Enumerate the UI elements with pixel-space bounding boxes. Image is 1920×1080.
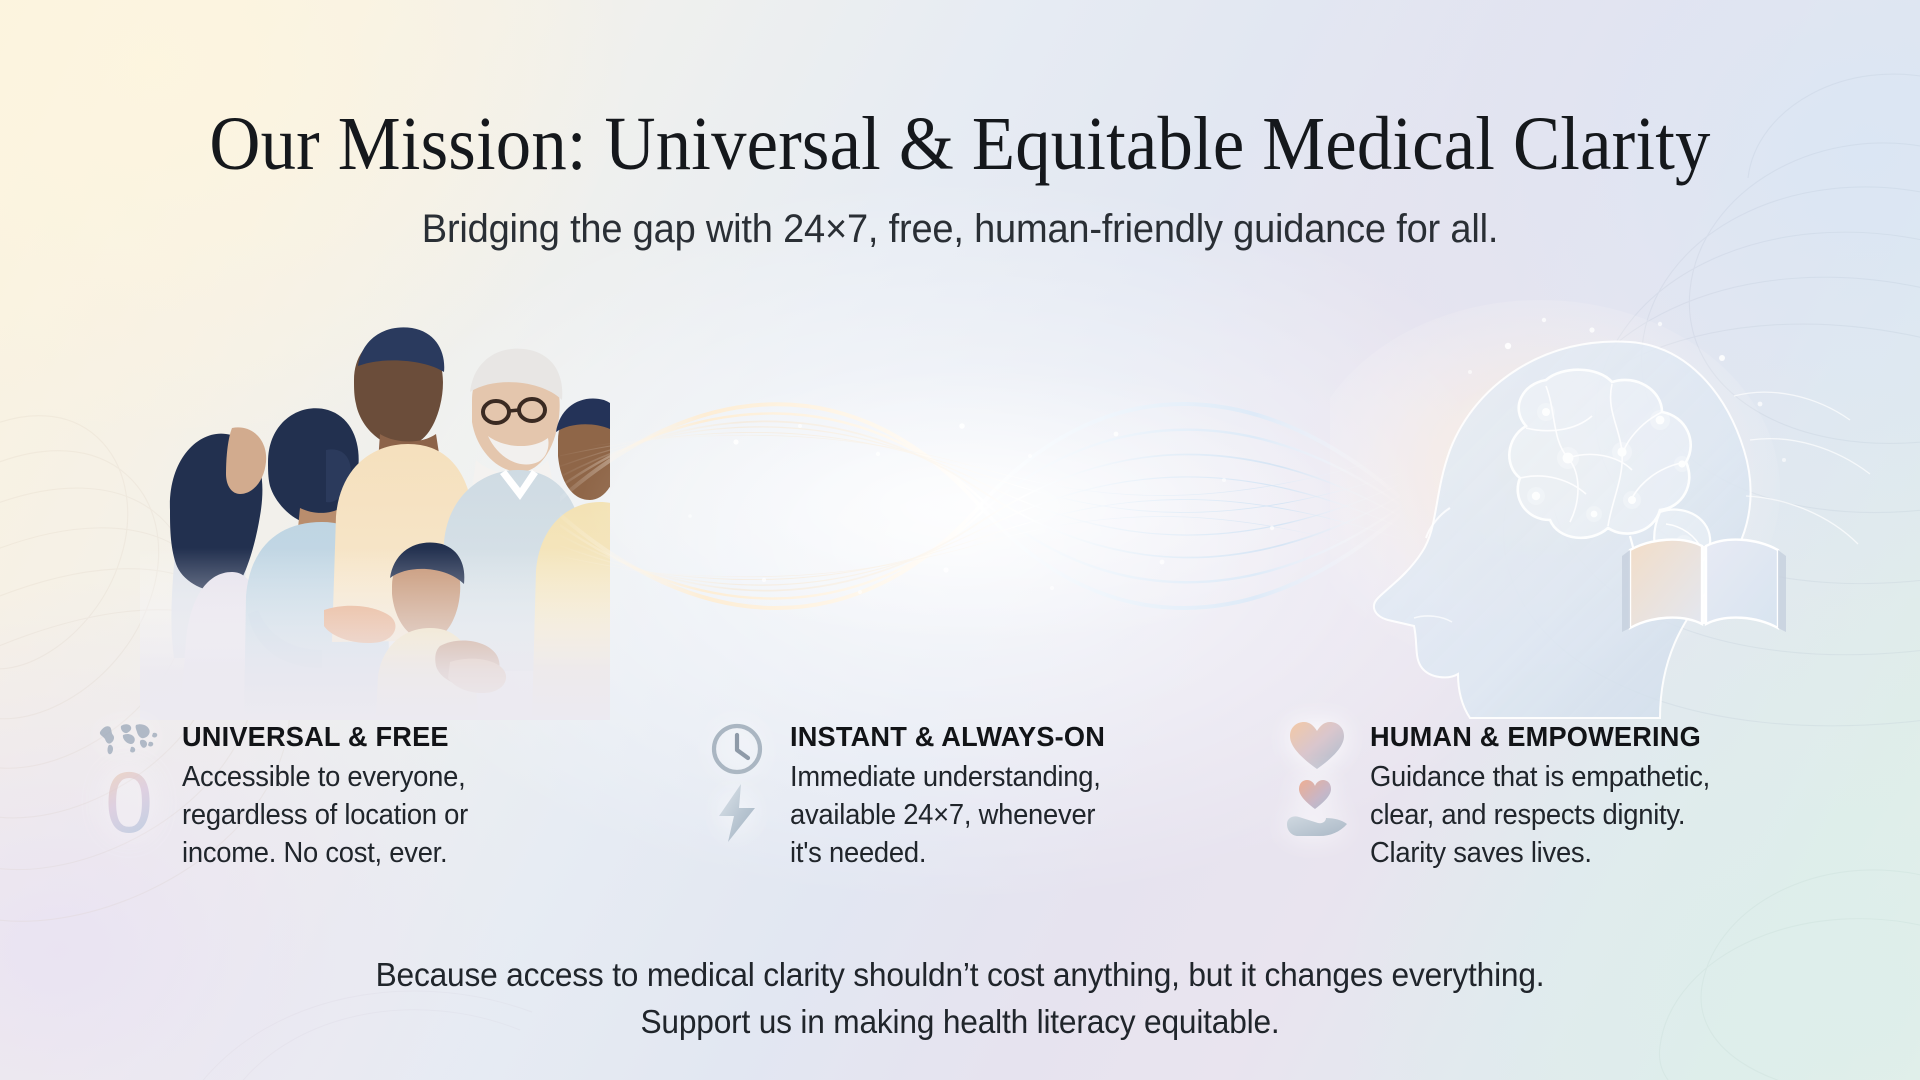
feature-instant-always-on-icons (700, 718, 774, 844)
description-line: Accessible to everyone, (182, 759, 468, 797)
feature-columns: 0 UNIVERSAL & FREE Accessible to everyon… (0, 718, 1920, 908)
feature-universal-free-text: UNIVERSAL & FREE Accessible to everyone,… (182, 718, 480, 873)
footer-line-2: Support us in making health literacy equ… (38, 999, 1881, 1046)
footer-block: Because access to medical clarity should… (0, 952, 1920, 1046)
description-line: it's needed. (790, 835, 1102, 873)
feature-universal-free-description: Accessible to everyone, regardless of lo… (182, 759, 468, 873)
heart-icon (1288, 720, 1346, 772)
feature-instant-always-on-heading: INSTANT & ALWAYS-ON (790, 721, 1105, 753)
description-line: income. No cost, ever. (182, 835, 468, 873)
description-line: Clarity saves lives. (1370, 835, 1710, 873)
hand-holding-heart-icon (1284, 776, 1350, 838)
page-subtitle: Bridging the gap with 24×7, free, human-… (48, 207, 1872, 252)
open-book-icon (1622, 540, 1786, 632)
description-line: available 24×7, whenever (790, 797, 1102, 835)
illustration-band (0, 300, 1920, 720)
feature-universal-free: 0 UNIVERSAL & FREE Accessible to everyon… (0, 718, 600, 908)
clock-icon (708, 720, 766, 778)
feature-universal-free-heading: UNIVERSAL & FREE (182, 721, 471, 753)
feature-human-empowering-description: Guidance that is empathetic, clear, and … (1370, 759, 1710, 873)
mission-poster: Our Mission: Universal & Equitable Medic… (0, 0, 1920, 1080)
brain-head-knowledge-illustration (1330, 300, 1890, 720)
page-title: Our Mission: Universal & Equitable Medic… (67, 104, 1853, 185)
description-line: Guidance that is empathetic, (1370, 759, 1710, 797)
globe-map-icon (97, 720, 161, 758)
description-line: clear, and respects dignity. (1370, 797, 1710, 835)
description-line: Immediate understanding, (790, 759, 1102, 797)
zero-cost-icon: 0 (105, 764, 153, 843)
family-group-illustration (140, 310, 610, 720)
footer-line-1: Because access to medical clarity should… (38, 952, 1881, 999)
header-block: Our Mission: Universal & Equitable Medic… (0, 104, 1920, 252)
description-line: regardless of location or (182, 797, 468, 835)
feature-instant-always-on-description: Immediate understanding, available 24×7,… (790, 759, 1102, 873)
feature-instant-always-on-text: INSTANT & ALWAYS-ON Immediate understand… (790, 718, 1115, 873)
light-wave-connection-illustration (560, 330, 1400, 690)
feature-universal-free-icons: 0 (92, 718, 166, 843)
feature-human-empowering-heading: HUMAN & EMPOWERING (1370, 721, 1714, 753)
feature-instant-always-on: INSTANT & ALWAYS-ON Immediate understand… (600, 718, 1220, 908)
feature-human-empowering-text: HUMAN & EMPOWERING Guidance that is empa… (1370, 718, 1724, 873)
lightning-bolt-icon (714, 782, 760, 844)
feature-human-empowering-icons (1280, 718, 1354, 838)
feature-human-empowering: HUMAN & EMPOWERING Guidance that is empa… (1220, 718, 1920, 908)
